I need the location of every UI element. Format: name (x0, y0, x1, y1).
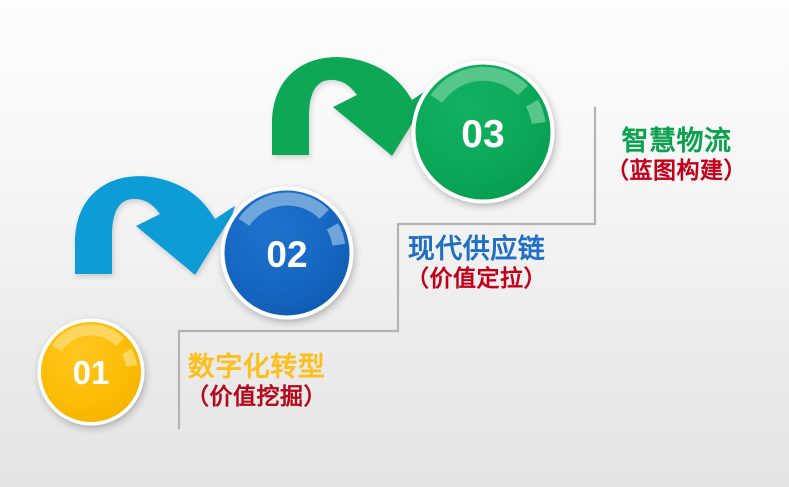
step-label-03: 智慧物流 （蓝图构建） (606, 126, 747, 184)
step-03-subtitle: （蓝图构建） (606, 158, 747, 184)
badge-02-number: 02 (266, 234, 307, 275)
step-label-02: 现代供应链 （价值定拉） (406, 234, 547, 292)
step-03-title: 智慧物流 (606, 126, 747, 156)
badge-02-icon[interactable]: 02 (221, 187, 354, 320)
badge-03-number: 03 (461, 113, 504, 156)
slide-canvas: 01 02 03 数字化转型 （价值挖掘） 现代供应链 （价值定拉） 智慧物流 … (0, 0, 789, 487)
badge-03-icon[interactable]: 03 (412, 61, 555, 204)
step-02-subtitle: （价值定拉） (406, 266, 547, 292)
step-02-title: 现代供应链 (406, 234, 547, 264)
step-01-title: 数字化转型 (186, 352, 327, 382)
step-01-subtitle: （价值挖掘） (186, 384, 327, 410)
circles-layer: 01 02 03 (0, 0, 789, 487)
badge-01-number: 01 (73, 354, 110, 391)
step-label-01: 数字化转型 （价值挖掘） (186, 352, 327, 410)
badge-01-icon[interactable]: 01 (38, 319, 145, 426)
